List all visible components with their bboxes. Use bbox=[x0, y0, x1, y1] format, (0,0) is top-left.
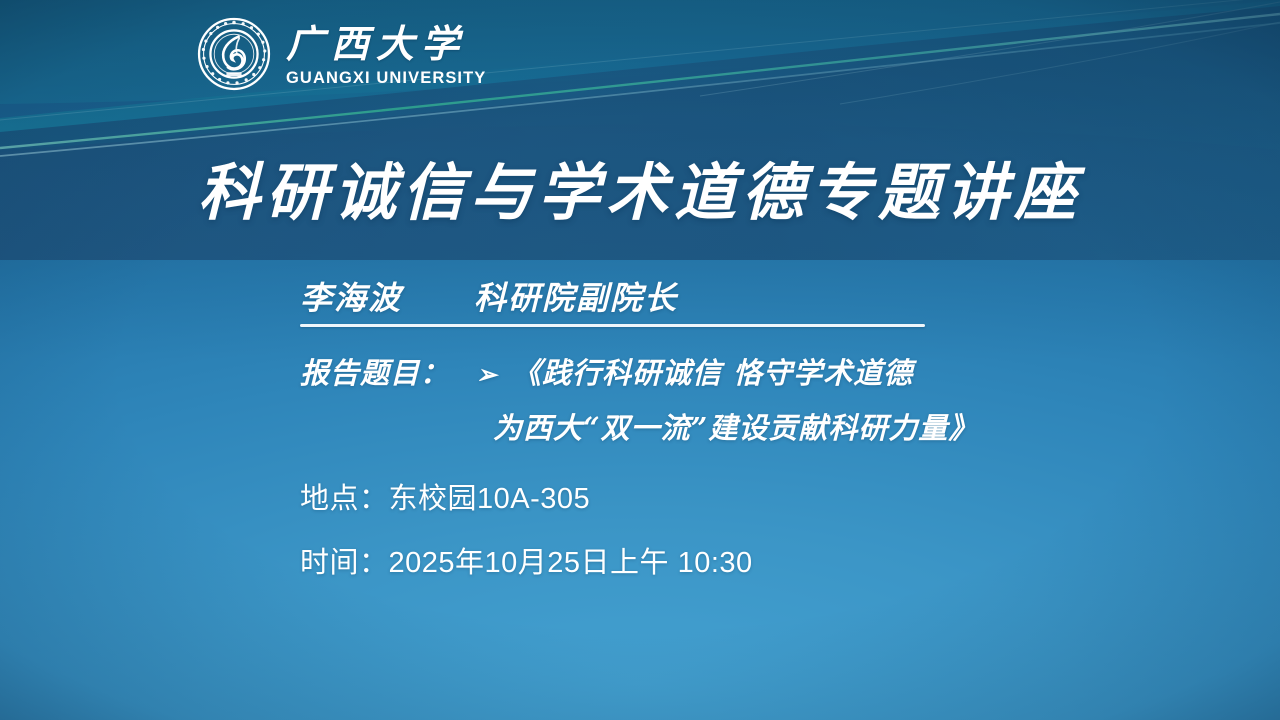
slide-body: 李海波 科研院副院长 报告题目： ➢ 《践行科研诚信 恪守学术道德 为西大“双一… bbox=[300, 278, 1000, 580]
topic-first-line: 报告题目： ➢ 《践行科研诚信 恪守学术道德 bbox=[300, 355, 1000, 393]
speaker-underline-rule bbox=[300, 324, 925, 327]
university-logo: 广西大学 GUANGXI UNIVERSITY bbox=[196, 16, 486, 92]
presentation-slide: 广西大学 GUANGXI UNIVERSITY 科研诚信与学术道德专题讲座 李海… bbox=[0, 0, 1280, 720]
arrow-bullet-icon: ➢ bbox=[476, 362, 498, 387]
logo-chinese-name: 广西大学 bbox=[286, 25, 466, 63]
topic-block: 报告题目： ➢ 《践行科研诚信 恪守学术道德 为西大“双一流”建设贡献科研力量》 bbox=[300, 355, 1000, 447]
topic-text-line-1: 《践行科研诚信 恪守学术道德 bbox=[512, 355, 913, 393]
speaker-role: 科研院副院长 bbox=[474, 278, 678, 318]
logo-english-name: GUANGXI UNIVERSITY bbox=[286, 70, 486, 87]
topic-label: 报告题目： bbox=[300, 355, 450, 393]
speaker-row: 李海波 科研院副院长 bbox=[300, 278, 1000, 318]
location-text: 地点：东校园10A-305 bbox=[300, 483, 1000, 516]
topic-text-line-2: 为西大“双一流”建设贡献科研力量》 bbox=[493, 410, 1000, 448]
guangxi-university-seal-icon bbox=[196, 16, 272, 92]
slide-headline: 科研诚信与学术道德专题讲座 bbox=[0, 142, 1280, 232]
speaker-name: 李海波 bbox=[300, 278, 402, 318]
logo-wordmark: 广西大学 GUANGXI UNIVERSITY bbox=[286, 21, 486, 87]
time-text: 时间：2025年10月25日上午 10:30 bbox=[300, 547, 1000, 580]
